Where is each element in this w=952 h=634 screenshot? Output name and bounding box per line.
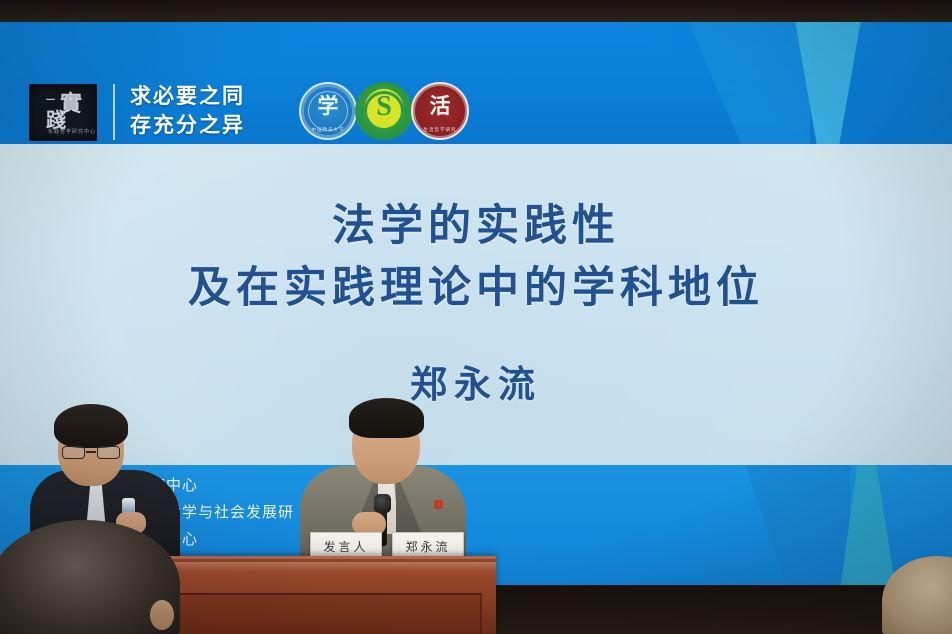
banner-shade-wedge [640,22,810,144]
glasses-right-lens [97,446,120,459]
emblem-group: 学 中国政法大学 S 活 生活哲学研究 [299,82,469,144]
green-s-emblem: S [355,82,413,140]
seal-logo-subtitle: 实践哲学研究中心 [48,128,96,135]
podium-panel-inset [132,593,482,634]
glasses-bridge [86,451,96,453]
microphone-icon [374,494,391,513]
projection-slide-body: 法学的实践性 及在实践理论中的学科地位 郑永流 [0,144,952,465]
slogan-line-2: 存充分之异 [130,111,280,140]
university-seal-emblem: 学 中国政法大学 [299,82,357,140]
conference-photo: 一 實 踐 实践哲学研究中心 求必要之同 存充分之异 学 中国政法大学 S 活 … [0,0,952,634]
seal-logo: 一 實 踐 实践哲学研究中心 [29,84,97,141]
ceiling-strip [0,0,952,24]
red-seal-glyph: 活 [413,96,467,117]
university-seal-glyph: 学 [301,96,355,117]
seal-logo-small-char: 一 [45,95,54,104]
speaker-lapel-badge [434,500,443,509]
screen-banner-header: 一 實 踐 实践哲学研究中心 求必要之同 存充分之异 学 中国政法大学 S 活 … [0,22,952,144]
university-seal-arc-text: 中国政法大学 [303,127,353,133]
foreground-audience-left-ear [150,600,174,630]
green-s-glyph: S [357,93,411,121]
banner-divider [113,84,115,140]
slide-title-line-2: 及在实践理论中的学科地位 [0,258,952,320]
red-seal-emblem: 活 生活哲学研究 [411,82,469,140]
glasses-left-lens [62,446,85,459]
slide-title-line-1: 法学的实践性 [0,196,952,258]
lower-band-shade-wedge [700,465,850,585]
slide-title: 法学的实践性 及在实践理论中的学科地位 [0,196,952,320]
moderator-hair [54,404,128,448]
slogan-line-1: 求必要之同 [130,82,280,111]
red-seal-arc-text: 生活哲学研究 [415,127,465,133]
slide-presenter-name: 郑永流 [0,354,952,408]
speaker-hair [349,398,424,438]
moderator-glasses [62,446,120,459]
banner-slogan: 求必要之同 存充分之异 [130,82,280,140]
